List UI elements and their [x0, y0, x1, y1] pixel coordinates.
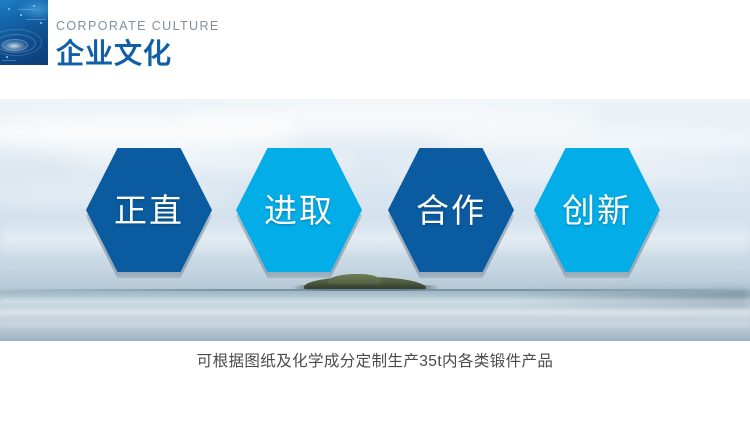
logo-line-icon [2, 60, 16, 61]
sea-streak [0, 311, 750, 314]
logo-dot-icon [6, 56, 8, 58]
logo-dot-icon [33, 5, 35, 7]
hexagon-label: 合作 [416, 194, 486, 227]
hexagon-label: 正直 [114, 194, 184, 227]
header-eyebrow: CORPORATE CULTURE [56, 20, 220, 33]
ripple-inner-icon [2, 39, 28, 51]
sea-streak [0, 323, 750, 326]
island-peak [328, 274, 382, 284]
logo-dot-icon [20, 14, 22, 16]
slide-header: CORPORATE CULTURE 企业文化 [0, 0, 750, 96]
hexagon-label: 创新 [562, 194, 632, 227]
logo-line-icon [26, 19, 46, 20]
hexagon-label: 进取 [264, 194, 334, 227]
slide-caption: 可根据图纸及化学成分定制生产35t内各类锻件产品 [0, 354, 750, 370]
sea-streak [0, 299, 750, 303]
header-text-group: CORPORATE CULTURE 企业文化 [56, 20, 220, 68]
logo-dot-icon [8, 8, 10, 10]
water-ripple-logo-icon [0, 0, 48, 65]
logo-line-icon [18, 9, 34, 10]
page-title: 企业文化 [56, 40, 220, 68]
slide-canvas: CORPORATE CULTURE 企业文化 正直 进取 [0, 0, 750, 421]
logo-dot-icon [40, 22, 42, 24]
